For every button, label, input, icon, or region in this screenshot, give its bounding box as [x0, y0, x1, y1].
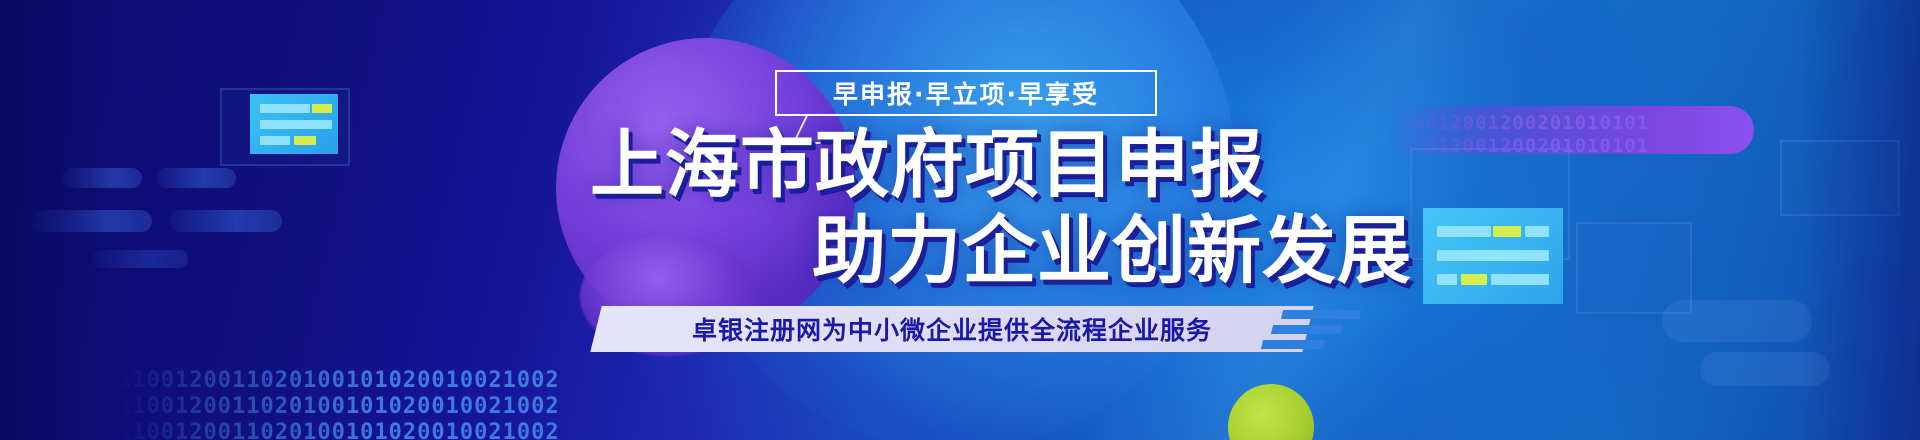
tagline-text: 早申报·早立项·早享受: [777, 72, 1155, 114]
tagline-speech-bubble: 早申报·早立项·早享受: [775, 70, 1157, 116]
ghost-rect-decoration-2: [1700, 352, 1830, 386]
binary-code-decoration-right: 110012001200201010101 110012001200201010…: [1388, 112, 1649, 158]
binary-line: 1100120011020100101020010021002: [118, 420, 560, 440]
subtitle-stripe-1: [1281, 310, 1361, 319]
dash-pill-decoration-4: [170, 210, 282, 232]
dash-pill-decoration-3: [32, 210, 152, 232]
headline-line-2: 助力企业创新发展: [812, 212, 1412, 290]
binary-line: 110012001200201010101: [1388, 135, 1649, 158]
binary-line: 110012001200201010101: [1388, 112, 1649, 135]
subtitle-stripe-2: [1271, 325, 1343, 334]
subtitle-bar-inner: 卓银注册网为中小微企业提供全流程企业服务: [596, 306, 1308, 352]
outline-rect-decoration-3: [1576, 222, 1692, 314]
dash-pill-decoration-5: [92, 250, 188, 268]
dash-pill-decoration-2: [156, 168, 236, 188]
document-card-icon-small: [250, 94, 338, 154]
binary-line: 1100120011020100101020010021002: [118, 394, 560, 420]
outline-rect-decoration-4: [1780, 140, 1900, 216]
binary-line: 1100120011020100101020010021002: [118, 368, 560, 394]
promo-banner: 1100120011020100101020010021002 11001200…: [0, 0, 1920, 440]
subtitle-bar: 卓银注册网为中小微企业提供全流程企业服务: [590, 306, 1313, 352]
subtitle-text: 卓银注册网为中小微企业提供全流程企业服务: [692, 311, 1212, 347]
binary-code-decoration-left: 1100120011020100101020010021002 11001200…: [118, 368, 560, 440]
subtitle-stripe-3: [1261, 340, 1325, 349]
headline-line-1: 上海市政府项目申报: [590, 126, 1265, 204]
document-card-icon-large: [1423, 208, 1563, 304]
dash-pill-decoration-1: [62, 168, 142, 188]
